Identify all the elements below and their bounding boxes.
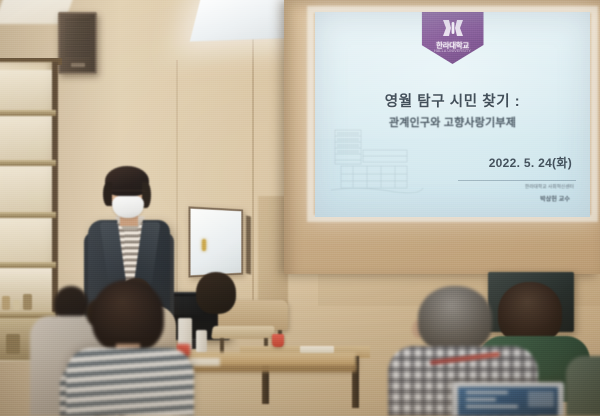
speaker-badge [71,63,85,67]
room-bottom-shading [0,266,600,416]
wall-speaker-icon [58,12,97,74]
speaker-grille [65,19,90,58]
projected-slide: 한라대학교 HALLA UNIVERSITY [315,12,590,217]
screen-vignette [315,12,590,217]
room-photo-scene: 한라대학교 HALLA UNIVERSITY [0,0,600,416]
ceiling-light-panel [190,0,298,42]
wall-seam [252,0,254,310]
door-handle-icon [202,239,206,251]
